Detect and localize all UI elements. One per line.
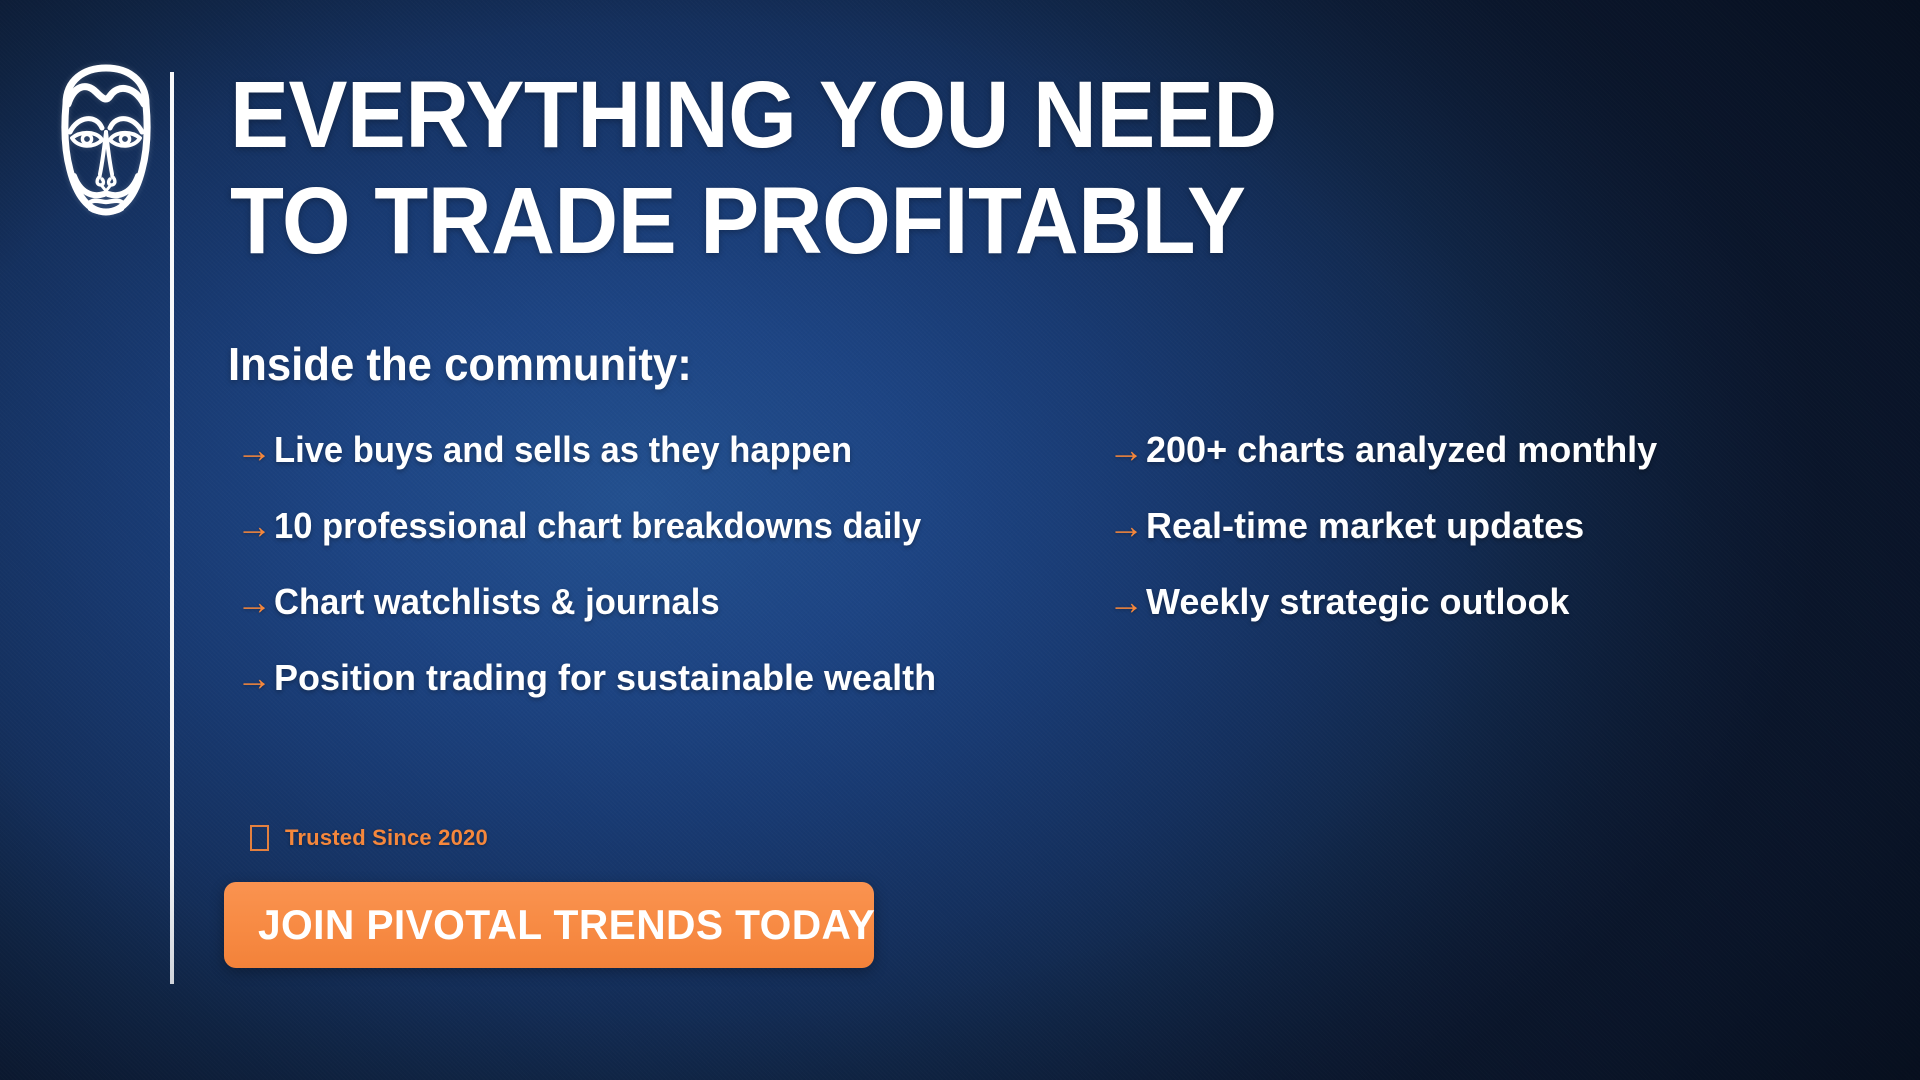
list-item: → 10 professional chart breakdowns daily (236, 508, 936, 584)
list-item: → Weekly strategic outlook (1108, 584, 1748, 660)
list-item: → Real-time market updates (1108, 508, 1748, 584)
missing-glyph-box-icon (250, 825, 269, 851)
feature-list-right-column: → 200+ charts analyzed monthly → Real-ti… (1108, 432, 1748, 660)
arrow-right-icon: → (236, 432, 272, 468)
page-title: EVERYTHING YOU NEED TO TRADE PROFITABLY (230, 62, 1579, 275)
headline-line-1: EVERYTHING YOU NEED (230, 62, 1579, 168)
list-item-label: Position trading for sustainable wealth (274, 660, 936, 696)
list-item: → 200+ charts analyzed monthly (1108, 432, 1748, 508)
join-cta-button[interactable]: JOIN PIVOTAL TRENDS TODAY (224, 882, 874, 968)
arrow-right-icon: → (236, 660, 272, 696)
content-area: EVERYTHING YOU NEED TO TRADE PROFITABLY … (0, 0, 1920, 1080)
join-cta-label: JOIN PIVOTAL TRENDS TODAY (258, 901, 875, 949)
list-item-label: Live buys and sells as they happen (274, 432, 852, 468)
status-badge: Trusted Since 2020 (250, 825, 488, 851)
feature-list-left-column: → Live buys and sells as they happen → 1… (236, 432, 936, 736)
arrow-right-icon: → (1108, 508, 1144, 544)
arrow-right-icon: → (1108, 432, 1144, 468)
list-item: → Position trading for sustainable wealt… (236, 660, 936, 736)
headline-line-2: TO TRADE PROFITABLY (230, 168, 1579, 274)
status-badge-label: Trusted Since 2020 (285, 825, 488, 851)
list-item-label: 10 professional chart breakdowns daily (274, 508, 921, 544)
subheading: Inside the community: (228, 337, 692, 391)
list-item-label: Weekly strategic outlook (1146, 584, 1569, 620)
arrow-right-icon: → (236, 584, 272, 620)
list-item: → Live buys and sells as they happen (236, 432, 936, 508)
arrow-right-icon: → (1108, 584, 1144, 620)
promo-slide: EVERYTHING YOU NEED TO TRADE PROFITABLY … (0, 0, 1920, 1080)
list-item-label: Chart watchlists & journals (274, 584, 720, 620)
list-item-label: 200+ charts analyzed monthly (1146, 432, 1657, 468)
list-item-label: Real-time market updates (1146, 508, 1584, 544)
arrow-right-icon: → (236, 508, 272, 544)
list-item: → Chart watchlists & journals (236, 584, 936, 660)
